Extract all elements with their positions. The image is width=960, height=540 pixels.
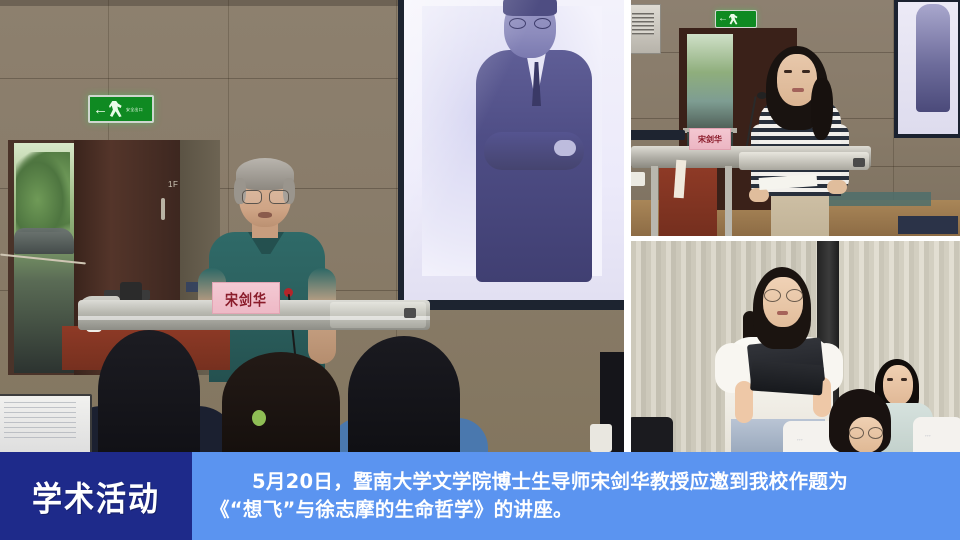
chair-logo: ◦◦◦ bbox=[925, 433, 931, 438]
speaker-mouth bbox=[258, 212, 272, 218]
emergency-exit-sign: ← bbox=[715, 10, 757, 28]
projection-screen bbox=[404, 0, 624, 300]
slide-footer-band bbox=[898, 216, 958, 234]
podium-leg bbox=[651, 166, 658, 236]
audience-head-left bbox=[98, 330, 200, 452]
paper-cup bbox=[631, 172, 645, 186]
podium-control-knob bbox=[853, 158, 865, 167]
attendee-right-face bbox=[883, 365, 913, 405]
floor-label: 1F bbox=[168, 180, 178, 189]
host-eye bbox=[784, 70, 792, 73]
category-badge: 学术活动 bbox=[0, 452, 192, 540]
slide-portrait bbox=[916, 4, 950, 112]
attendee-right-eye bbox=[901, 378, 907, 381]
running-person-icon bbox=[729, 14, 739, 25]
chair-back-right: ◦◦◦ bbox=[913, 417, 960, 452]
audience-earphone bbox=[252, 410, 266, 426]
attendee-center-glasses-icon bbox=[849, 427, 883, 437]
door-handle bbox=[161, 198, 165, 220]
emergency-exit-sign: ← 安全出口 bbox=[88, 95, 154, 123]
category-badge-label: 学术活动 bbox=[32, 471, 160, 520]
host-hand-left bbox=[749, 188, 769, 202]
outdoor-trees bbox=[16, 152, 70, 232]
screen-glare bbox=[404, 0, 624, 300]
photo-top-right-host: ← 宋剑华 bbox=[631, 0, 960, 236]
name-placard: 宋剑华 bbox=[212, 282, 280, 314]
name-placard-text: 宋剑华 bbox=[698, 134, 722, 145]
photo-bottom-right-student: ◦◦◦ ◦◦◦ bbox=[631, 241, 960, 452]
laptop-screen-text bbox=[4, 402, 76, 442]
tablet-case bbox=[750, 361, 824, 396]
screenshot-root: 1F ← 安全出口 bbox=[0, 0, 960, 540]
student-mouth bbox=[777, 311, 788, 315]
caption-bar: 学术活动 5月20日，暨南大学文学院博士生导师宋剑华教授应邀到我校作题为 《“想… bbox=[0, 452, 960, 540]
podium-leg bbox=[725, 166, 732, 236]
podium-highlight bbox=[78, 316, 430, 320]
chair-logo: ◦◦◦ bbox=[797, 437, 803, 442]
speaker-glasses-icon bbox=[242, 190, 289, 202]
host-hand-right bbox=[827, 180, 847, 194]
student-face bbox=[763, 277, 803, 327]
left-arrow-icon: ← bbox=[718, 14, 728, 24]
audience-head-center bbox=[222, 352, 340, 452]
audience-cup bbox=[590, 424, 612, 452]
student-glasses-icon bbox=[764, 289, 803, 300]
audience-laptop bbox=[0, 394, 92, 452]
running-person-icon bbox=[109, 101, 124, 117]
caption-text-block: 5月20日，暨南大学文学院博士生导师宋剑华教授应邀到我校作题为 《“想飞”与徐志… bbox=[192, 452, 960, 540]
ac-vent-icon bbox=[632, 13, 654, 35]
host-hair-strand bbox=[811, 78, 833, 140]
chair-dark-left bbox=[631, 417, 673, 452]
side-table bbox=[659, 168, 717, 236]
name-placard-text: 宋剑华 bbox=[225, 287, 267, 309]
host-mouth bbox=[792, 88, 804, 92]
exit-sign-label: 安全出口 bbox=[126, 107, 143, 112]
photo-main-lecture-hall: 1F ← 安全出口 bbox=[0, 0, 624, 452]
attendee-right-eye bbox=[887, 378, 893, 381]
door-glass-outdoors bbox=[687, 34, 733, 130]
name-placard: 宋剑华 bbox=[689, 128, 731, 150]
caption-line-2: 《“想飞”与徐志摩的生命哲学》的讲座。 bbox=[210, 496, 946, 524]
podium-control-knob bbox=[404, 308, 416, 318]
audience-head-right bbox=[348, 336, 460, 452]
keyboard bbox=[631, 130, 685, 140]
air-conditioner-unit bbox=[631, 4, 661, 54]
caption-line-1: 5月20日，暨南大学文学院博士生导师宋剑华教授应邀到我校作题为 bbox=[210, 468, 946, 496]
host-eye bbox=[802, 70, 810, 73]
outdoor-vehicle bbox=[14, 228, 74, 254]
left-arrow-icon: ← bbox=[93, 102, 108, 117]
podium-console bbox=[739, 152, 869, 170]
